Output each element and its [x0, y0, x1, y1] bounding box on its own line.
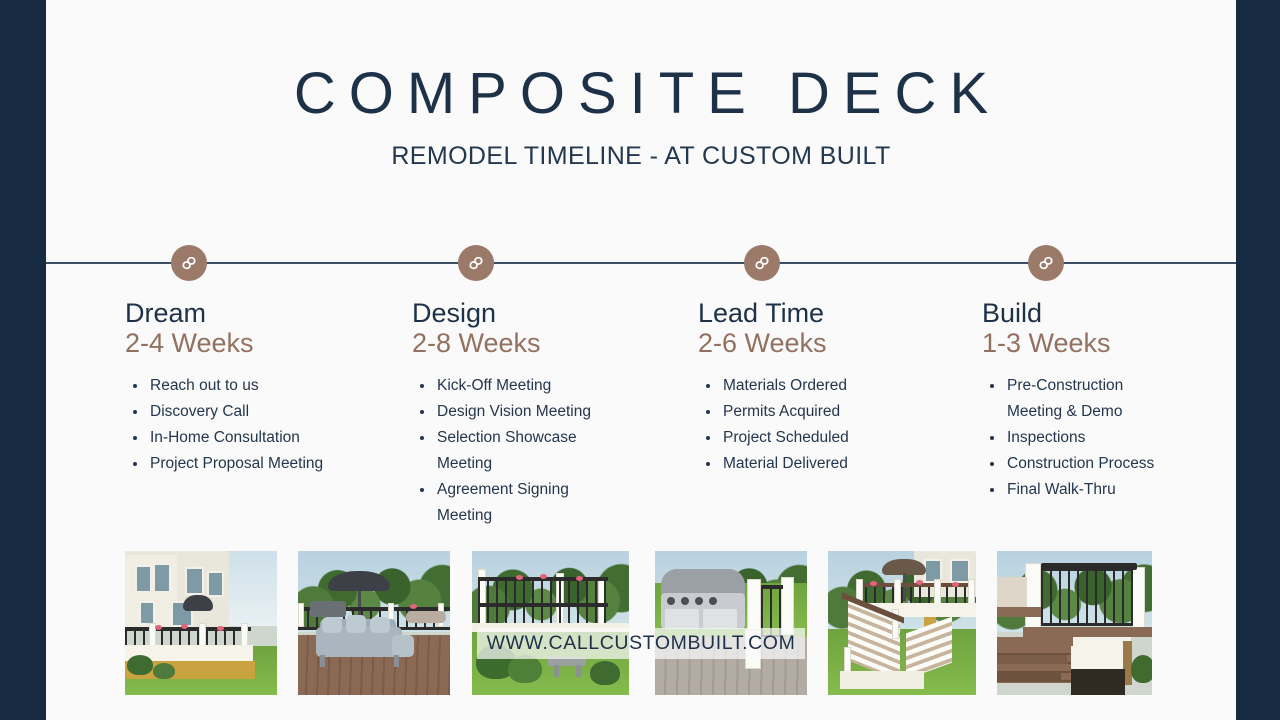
website-url[interactable]: WWW.CALLCUSTOMBUILT.COM	[477, 628, 806, 659]
list-item: Inspections	[982, 425, 1186, 451]
gallery-photo-deck-railing-garden	[472, 551, 629, 695]
gallery-photo-deck-railing-steps	[997, 551, 1152, 695]
timeline-marker-dream[interactable]	[171, 245, 207, 281]
stage-task-list: Kick-Off Meeting Design Vision Meeting S…	[412, 373, 619, 529]
stage-name: Dream	[125, 298, 333, 328]
stage-name: Build	[982, 298, 1186, 328]
list-item: Pre-Construction Meeting & Demo	[982, 373, 1159, 425]
list-item: Construction Process	[982, 451, 1186, 477]
list-item: Project Scheduled	[698, 425, 903, 451]
stage-column-dream: Dream 2-4 Weeks Reach out to us Discover…	[46, 298, 333, 529]
list-item: Kick-Off Meeting	[412, 373, 619, 399]
custom-built-monogram-icon	[178, 252, 200, 274]
list-item: Design Vision Meeting	[412, 399, 619, 425]
list-item: Materials Ordered	[698, 373, 903, 399]
stage-duration: 2-4 Weeks	[125, 328, 333, 358]
gallery-photo-grill-on-deck	[655, 551, 807, 695]
content-panel: COMPOSITE DECK REMODEL TIMELINE - AT CUS…	[46, 0, 1236, 720]
stage-task-list: Materials Ordered Permits Acquired Proje…	[698, 373, 903, 477]
timeline-marker-design[interactable]	[458, 245, 494, 281]
gallery-photo-deck-furniture	[298, 551, 450, 695]
list-item: Project Proposal Meeting	[125, 451, 333, 477]
stage-duration: 2-6 Weeks	[698, 328, 903, 358]
timeline-stage-columns: Dream 2-4 Weeks Reach out to us Discover…	[46, 298, 1236, 529]
stage-duration: 1-3 Weeks	[982, 328, 1186, 358]
stage-duration: 2-8 Weeks	[412, 328, 619, 358]
stage-column-build: Build 1-3 Weeks Pre-Construction Meeting…	[903, 298, 1186, 529]
stage-name: Lead Time	[698, 298, 903, 328]
custom-built-monogram-icon	[465, 252, 487, 274]
gallery-photo-house-with-deck	[125, 551, 277, 695]
stage-column-design: Design 2-8 Weeks Kick-Off Meeting Design…	[333, 298, 619, 529]
custom-built-monogram-icon	[751, 252, 773, 274]
list-item: Final Walk-Thru	[982, 477, 1186, 503]
stage-task-list: Pre-Construction Meeting & Demo Inspecti…	[982, 373, 1186, 503]
gallery-photo-deck-staircase	[828, 551, 976, 695]
list-item: Permits Acquired	[698, 399, 903, 425]
page-subtitle: REMODEL TIMELINE - AT CUSTOM BUILT	[46, 142, 1236, 171]
list-item: Selection Showcase Meeting	[412, 425, 619, 477]
list-item: Reach out to us	[125, 373, 333, 399]
stage-task-list: Reach out to us Discovery Call In-Home C…	[125, 373, 333, 477]
custom-built-monogram-icon	[1035, 252, 1057, 274]
website-url-overlay: WWW.CALLCUSTOMBUILT.COM	[46, 625, 1236, 661]
list-item: Agreement Signing Meeting	[412, 477, 619, 529]
list-item: Material Delivered	[698, 451, 903, 477]
list-item: In-Home Consultation	[125, 425, 333, 451]
stage-name: Design	[412, 298, 619, 328]
page-title: COMPOSITE DECK	[46, 62, 1236, 126]
list-item: Discovery Call	[125, 399, 333, 425]
header: COMPOSITE DECK REMODEL TIMELINE - AT CUS…	[46, 62, 1236, 171]
stage-column-lead-time: Lead Time 2-6 Weeks Materials Ordered Pe…	[619, 298, 903, 529]
infographic-canvas: COMPOSITE DECK REMODEL TIMELINE - AT CUS…	[0, 0, 1280, 720]
photo-gallery	[46, 551, 1236, 697]
timeline-marker-lead-time[interactable]	[744, 245, 780, 281]
timeline-marker-build[interactable]	[1028, 245, 1064, 281]
